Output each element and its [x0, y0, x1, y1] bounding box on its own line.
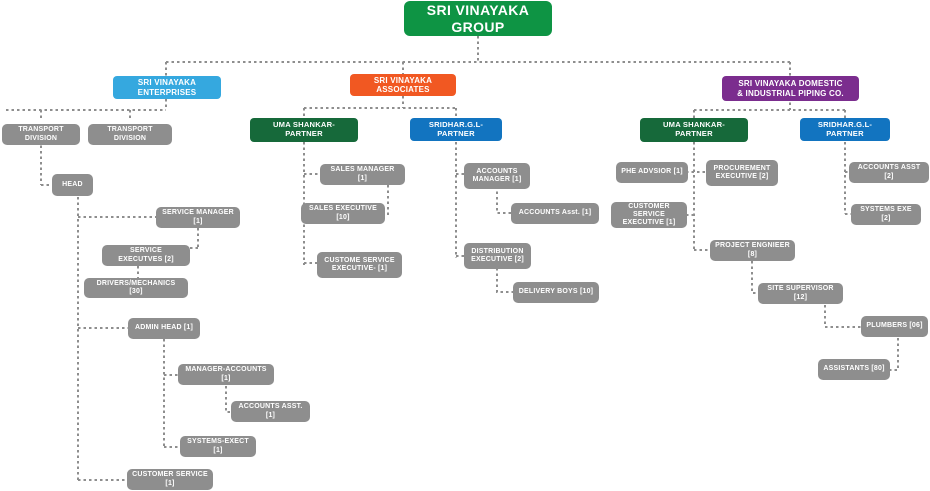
node-head[interactable]: HEAD: [52, 174, 93, 196]
node-service-manager[interactable]: SERVICE MANAGER [1]: [156, 207, 240, 228]
node-sales-manager[interactable]: SALES MANAGER [1]: [320, 164, 405, 185]
node-sales-executive[interactable]: SALES EXECUTIVE [10]: [301, 203, 385, 224]
node-transport-division-1[interactable]: TRANSPORT DIVISION: [2, 124, 80, 145]
node-distribution-executive[interactable]: DISTRIBUTION EXECUTIVE [2]: [464, 243, 531, 269]
node-root[interactable]: SRI VINAYAKA GROUP: [404, 1, 552, 36]
org-chart: SRI VINAYAKA GROUP SRI VINAYAKA ENTERPRI…: [0, 0, 930, 491]
node-project-engineer[interactable]: PROJECT ENGNIEER [8]: [710, 240, 795, 261]
node-plumbers[interactable]: PLUMBERS [06]: [861, 316, 928, 337]
node-customer-service-enterprises[interactable]: CUSTOMER SERVICE [1]: [127, 469, 213, 490]
node-phe-advisor[interactable]: PHE ADVSIOR [1]: [616, 162, 688, 183]
node-procurement-executive[interactable]: PROCUREMENT EXECUTIVE [2]: [706, 160, 778, 186]
node-assistants[interactable]: ASSISTANTS [80]: [818, 359, 890, 380]
node-site-supervisor[interactable]: SITE SUPERVISOR [12]: [758, 283, 843, 304]
node-sridhar-piping[interactable]: SRIDHAR.G.L-PARTNER: [800, 118, 890, 141]
node-systems-exect[interactable]: SYSTEMS-EXECT [1]: [180, 436, 256, 457]
node-delivery-boys[interactable]: DELIVERY BOYS [10]: [513, 282, 599, 303]
node-service-executives[interactable]: SERVICE EXECUTVES [2]: [102, 245, 190, 266]
node-transport-division-2[interactable]: TRANSPORT DIVISION: [88, 124, 172, 145]
node-systems-exe[interactable]: SYSTEMS EXE [2]: [851, 204, 921, 225]
node-uma-shankar-associates[interactable]: UMA SHANKAR- PARTNER: [250, 118, 358, 142]
node-accounts-asst-piping[interactable]: ACCOUNTS ASST [2]: [849, 162, 929, 183]
node-admin-head[interactable]: ADMIN HEAD [1]: [128, 318, 200, 339]
node-drivers-mechanics[interactable]: DRIVERS/MECHANICS [30]: [84, 278, 188, 298]
node-accounts-asst-associates[interactable]: ACCOUNTS Asst. [1]: [511, 203, 599, 224]
node-accounts-manager[interactable]: ACCOUNTS MANAGER [1]: [464, 163, 530, 189]
node-sri-vinayaka-enterprises[interactable]: SRI VINAYAKA ENTERPRISES: [113, 76, 221, 99]
node-accounts-asst-admin[interactable]: ACCOUNTS ASST. [1]: [231, 401, 310, 422]
node-sri-vinayaka-piping[interactable]: SRI VINAYAKA DOMESTIC & INDUSTRIAL PIPIN…: [722, 76, 859, 101]
node-manager-accounts[interactable]: MANAGER-ACCOUNTS [1]: [178, 364, 274, 385]
node-sridhar-associates[interactable]: SRIDHAR.G.L-PARTNER: [410, 118, 502, 141]
node-custome-service-executive[interactable]: CUSTOME SERVICE EXECUTIVE- [1]: [317, 252, 402, 278]
node-uma-shankar-piping[interactable]: UMA SHANKAR- PARTNER: [640, 118, 748, 142]
node-customer-service-piping[interactable]: CUSTOMER SERVICE EXECUTIVE [1]: [611, 202, 687, 228]
node-sri-vinayaka-associates[interactable]: SRI VINAYAKA ASSOCIATES: [350, 74, 456, 96]
